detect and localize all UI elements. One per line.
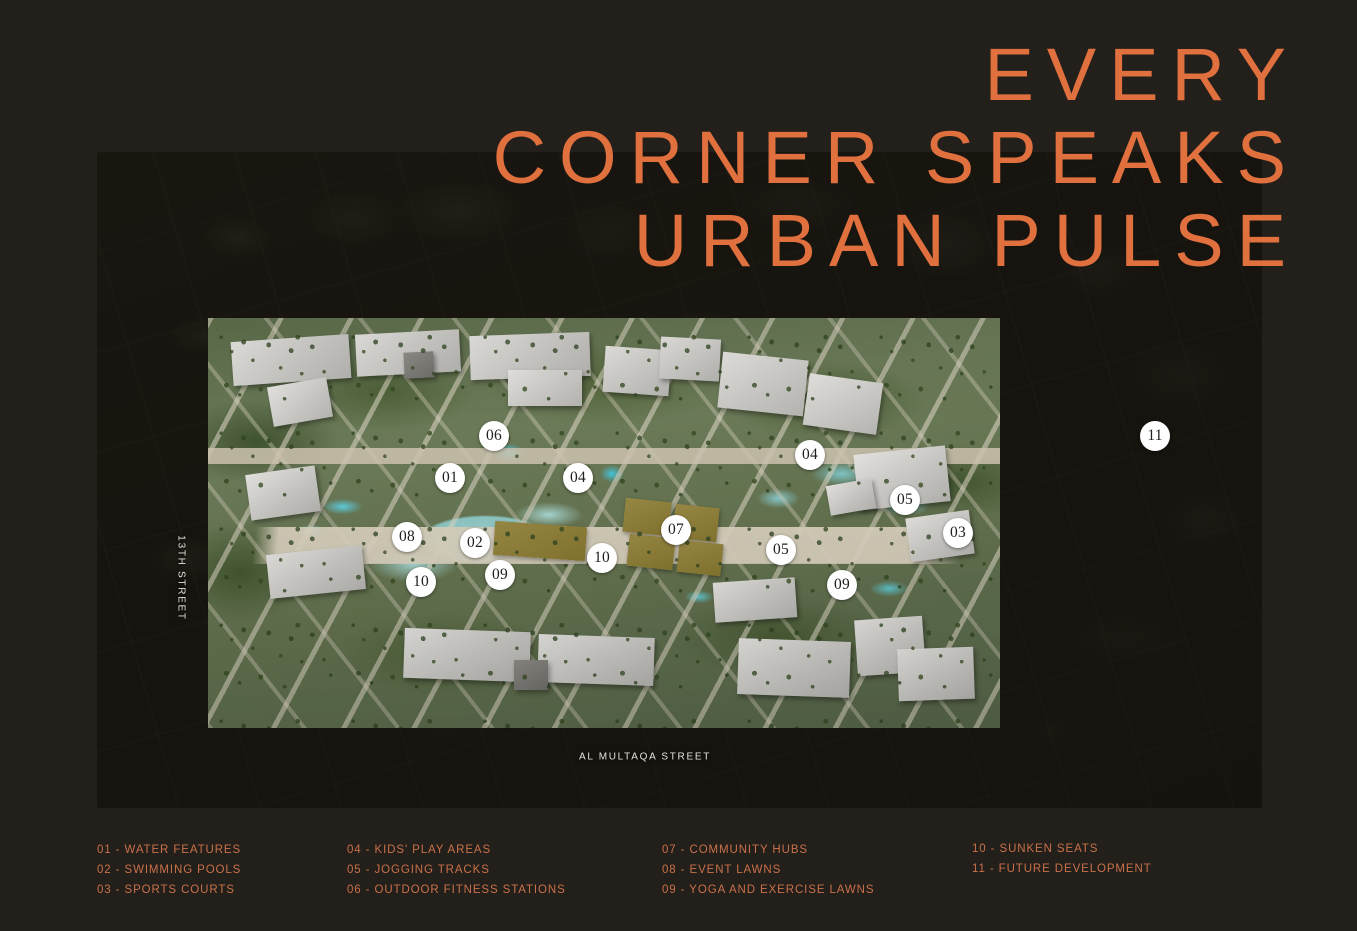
masterplan-page: 13TH STREET AL MULTAQA STREET 0601040405… [0,0,1357,931]
legend-item: 09 - YOGA AND EXERCISE LAWNS [662,884,972,896]
legend-column-3: 07 - COMMUNITY HUBS 08 - EVENT LAWNS 09 … [662,840,972,910]
marker-05-lower[interactable]: 05 [766,535,796,565]
marker-08[interactable]: 08 [392,522,422,552]
legend-item: 01 - WATER FEATURES [97,844,347,856]
amenities-legend: 01 - WATER FEATURES 02 - SWIMMING POOLS … [0,840,1357,910]
legend-item: 11 - FUTURE DEVELOPMENT [972,863,1252,875]
legend-column-4: 10 - SUNKEN SEATS 11 - FUTURE DEVELOPMEN… [972,840,1252,910]
street-label-13th-street: 13TH STREET [176,535,187,620]
marker-03[interactable]: 03 [943,518,973,548]
legend-item: 04 - KIDS' PLAY AREAS [347,844,662,856]
marker-11[interactable]: 11 [1140,421,1170,451]
marker-09-left[interactable]: 09 [485,560,515,590]
legend-item: 07 - COMMUNITY HUBS [662,844,972,856]
legend-column-2: 04 - KIDS' PLAY AREAS 05 - JOGGING TRACK… [347,840,662,910]
marker-10-center[interactable]: 10 [587,543,617,573]
marker-06[interactable]: 06 [479,421,509,451]
legend-column-1: 01 - WATER FEATURES 02 - SWIMMING POOLS … [97,840,347,910]
legend-item: 02 - SWIMMING POOLS [97,864,347,876]
legend-item: 05 - JOGGING TRACKS [347,864,662,876]
headline-line-1: EVERY [493,34,1299,117]
marker-07[interactable]: 07 [661,515,691,545]
marker-05-upper[interactable]: 05 [890,485,920,515]
marker-09-right[interactable]: 09 [827,570,857,600]
marker-04-right[interactable]: 04 [795,440,825,470]
legend-item: 08 - EVENT LAWNS [662,864,972,876]
marker-04-left[interactable]: 04 [563,463,593,493]
marker-01[interactable]: 01 [435,463,465,493]
legend-item: 06 - OUTDOOR FITNESS STATIONS [347,884,662,896]
legend-item: 03 - SPORTS COURTS [97,884,347,896]
masterplan-aerial-render [208,318,1000,728]
marker-10-left[interactable]: 10 [406,567,436,597]
plan-shading-layer [208,318,1000,728]
marker-02[interactable]: 02 [460,528,490,558]
legend-item: 10 - SUNKEN SEATS [972,843,1252,855]
street-label-al-multaqa-street: AL MULTAQA STREET [579,752,711,763]
